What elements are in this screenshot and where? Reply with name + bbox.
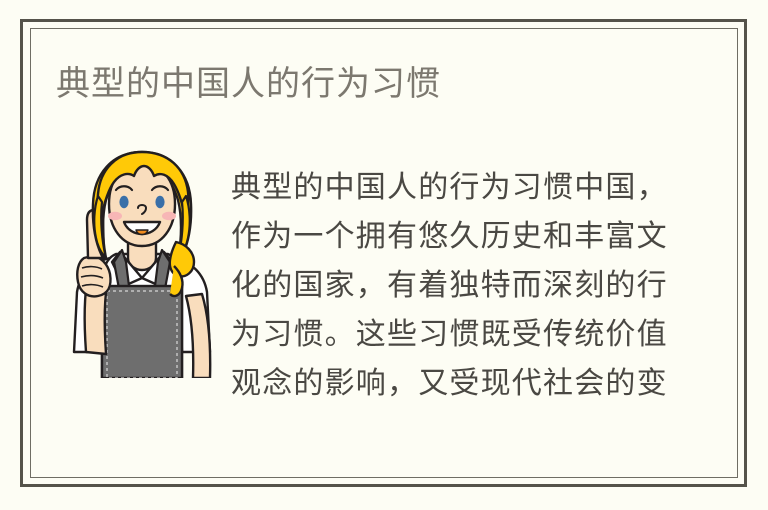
article-body: 典型的中国人的行为习惯中国， 作为一个拥有悠久历史和丰富文 化的国家，有着独特而…: [231, 163, 649, 408]
article-line: 为习惯。这些习惯既受传统价值: [231, 310, 649, 359]
article-line: 作为一个拥有悠久历史和丰富文: [231, 212, 649, 261]
document-page: 典型的中国人的行为习惯: [0, 0, 768, 510]
article-line: 化的国家，有着独特而深刻的行: [231, 261, 649, 310]
article-line: 观念的影响，又受现代社会的变: [231, 359, 649, 408]
article-line: 典型的中国人的行为习惯中国，: [231, 163, 649, 212]
page-title: 典型的中国人的行为习惯: [56, 62, 441, 106]
illustration-cartoon-woman-pointing-up: [62, 146, 222, 378]
